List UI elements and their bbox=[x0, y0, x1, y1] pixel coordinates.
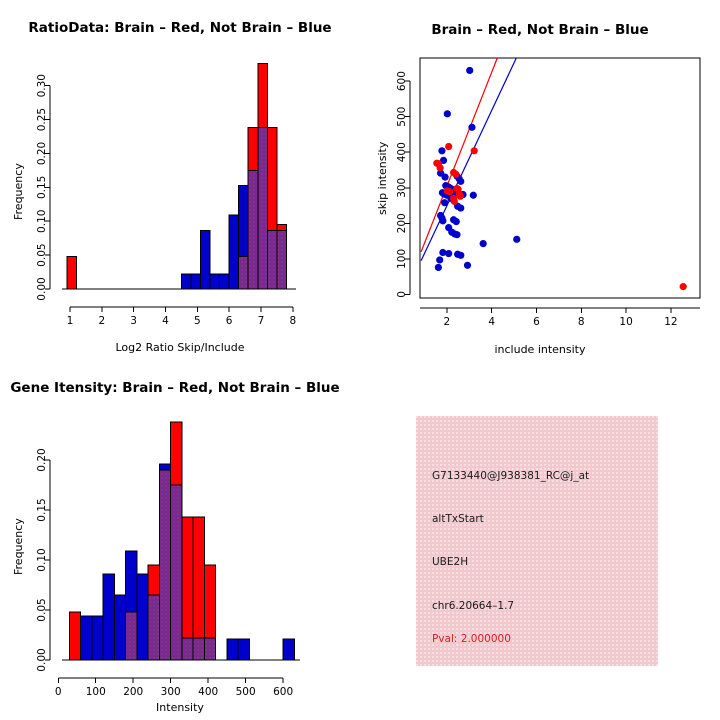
scatter-point bbox=[445, 143, 452, 150]
scatter-point bbox=[457, 204, 464, 211]
scatter-point bbox=[457, 252, 464, 259]
hist-bar bbox=[227, 639, 238, 660]
x-tick-label: 2 bbox=[98, 315, 105, 327]
hist-bar bbox=[67, 256, 77, 289]
hist-bar-overlap bbox=[193, 638, 204, 660]
y-tick-label: 0 bbox=[396, 291, 408, 298]
hist-bar-overlap bbox=[239, 256, 249, 289]
figure-canvas: RatioData: Brain – Red, Not Brain – Blue… bbox=[0, 0, 720, 720]
scatter-point bbox=[444, 110, 451, 117]
y-tick-label: 0.05 bbox=[36, 243, 48, 266]
scatter-point bbox=[453, 231, 460, 238]
hist-bar-overlap bbox=[159, 470, 170, 660]
hist-bar bbox=[229, 215, 239, 289]
panel-gene-histogram: Gene Itensity: Brain – Red, Not Brain – … bbox=[0, 360, 360, 720]
y-tick-label: 0.30 bbox=[36, 74, 48, 97]
hist-bar bbox=[70, 612, 81, 660]
x-tick-label: 2 bbox=[444, 316, 451, 328]
ratio-histogram-title: RatioData: Brain – Red, Not Brain – Blue bbox=[0, 20, 360, 36]
ratio-histogram-plot: 0.000.050.100.150.200.250.3012345678 bbox=[0, 0, 360, 360]
hist-bar-overlap bbox=[267, 231, 277, 289]
y-tick-label: 0.15 bbox=[36, 498, 48, 521]
y-tick-label: 0.25 bbox=[36, 108, 48, 131]
hist-bar-overlap bbox=[204, 638, 215, 660]
scatter-point bbox=[466, 67, 473, 74]
scatter-point bbox=[452, 171, 459, 178]
x-tick-label: 4 bbox=[488, 316, 495, 328]
y-tick-label: 0.10 bbox=[36, 548, 48, 571]
gene-histogram-title: Gene Itensity: Brain – Red, Not Brain – … bbox=[0, 380, 350, 396]
hist-bar bbox=[81, 616, 92, 660]
scatter-point bbox=[513, 236, 520, 243]
hist-bar bbox=[103, 574, 114, 660]
scatter-title: Brain – Red, Not Brain – Blue bbox=[360, 22, 720, 38]
scatter-xlabel: include intensity bbox=[360, 343, 720, 356]
x-tick-label: 600 bbox=[273, 686, 293, 698]
hist-bars bbox=[70, 422, 295, 660]
hist-bar-overlap bbox=[126, 612, 137, 660]
hist-bar-overlap bbox=[258, 128, 268, 289]
y-tick-label: 300 bbox=[396, 178, 408, 198]
hist-bar bbox=[191, 274, 201, 289]
gene-histogram-plot: 0.000.050.100.150.200100200300400500600 bbox=[0, 360, 360, 720]
y-tick-label: 0.00 bbox=[36, 648, 48, 671]
scatter-point bbox=[680, 283, 687, 290]
scatter-point bbox=[480, 240, 487, 247]
x-tick-label: 12 bbox=[664, 316, 677, 328]
hist-bar bbox=[238, 639, 249, 660]
y-tick-label: 200 bbox=[396, 213, 408, 233]
hist-bar bbox=[220, 274, 230, 289]
y-tick-label: 0.20 bbox=[36, 142, 48, 165]
scatter-point bbox=[451, 198, 458, 205]
y-tick-label: 0.15 bbox=[36, 176, 48, 199]
hist-bar-overlap bbox=[182, 638, 193, 660]
gene-histogram-xlabel: Intensity bbox=[0, 701, 360, 714]
hist-bar-overlap bbox=[248, 170, 258, 289]
info-probe-id: G7133440@J938381_RC@j_at bbox=[432, 470, 589, 482]
x-tick-label: 300 bbox=[161, 686, 181, 698]
scatter-point bbox=[457, 178, 464, 185]
hist-bar bbox=[200, 231, 210, 289]
hist-bar bbox=[114, 595, 125, 660]
scatter-point bbox=[437, 164, 444, 171]
x-tick-label: 400 bbox=[198, 686, 218, 698]
info-gene-symbol: UBE2H bbox=[432, 556, 468, 568]
scatter-point bbox=[470, 192, 477, 199]
hist-bar bbox=[210, 274, 220, 289]
scatter-point bbox=[468, 124, 475, 131]
y-tick-label: 500 bbox=[396, 107, 408, 127]
y-tick-label: 0.10 bbox=[36, 210, 48, 233]
hist-bar bbox=[283, 639, 294, 660]
ratio-histogram-ylabel: Frequency bbox=[12, 163, 25, 220]
gene-histogram-ylabel: Frequency bbox=[12, 518, 25, 575]
scatter-point bbox=[445, 250, 452, 257]
hist-bar-overlap bbox=[171, 485, 182, 660]
scatter-point bbox=[471, 147, 478, 154]
y-tick-label: 0.00 bbox=[36, 277, 48, 300]
ratio-histogram-xlabel: Log2 Ratio Skip/Include bbox=[0, 341, 360, 354]
y-tick-label: 0.05 bbox=[36, 598, 48, 621]
y-tick-label: 100 bbox=[396, 249, 408, 269]
scatter-point bbox=[439, 217, 446, 224]
x-tick-label: 6 bbox=[226, 315, 233, 327]
scatter-inner bbox=[421, 58, 687, 290]
x-tick-label: 8 bbox=[578, 316, 585, 328]
scatter-point bbox=[457, 193, 464, 200]
scatter-point bbox=[464, 262, 471, 269]
y-tick-label: 0.20 bbox=[36, 448, 48, 471]
x-tick-label: 200 bbox=[123, 686, 143, 698]
info-pval: Pval: 2.000000 bbox=[432, 633, 511, 645]
scatter-plot: 010020030040050060024681012 bbox=[360, 0, 720, 360]
fit-line-not-brain-fit bbox=[421, 58, 516, 261]
y-tick-label: 400 bbox=[396, 142, 408, 162]
hist-bars bbox=[67, 63, 287, 289]
x-tick-label: 3 bbox=[130, 315, 137, 327]
hist-bar bbox=[181, 274, 191, 289]
scatter-point bbox=[446, 188, 453, 195]
x-tick-label: 4 bbox=[162, 315, 169, 327]
panel-scatter: Brain – Red, Not Brain – Blue 0100200300… bbox=[360, 0, 720, 360]
panel-info: G7133440@J938381_RC@j_at altTxStart UBE2… bbox=[360, 360, 720, 720]
y-tick-label: 600 bbox=[396, 71, 408, 91]
hist-bar-overlap bbox=[148, 595, 159, 660]
scatter-point bbox=[438, 147, 445, 154]
x-tick-label: 7 bbox=[258, 315, 265, 327]
scatter-point bbox=[441, 199, 448, 206]
info-event-type: altTxStart bbox=[432, 513, 484, 525]
info-locus: chr6.20664–1.7 bbox=[432, 600, 514, 612]
scatter-ylabel: skip intensity bbox=[376, 142, 389, 215]
scatter-point bbox=[435, 264, 442, 271]
panel-ratio-histogram: RatioData: Brain – Red, Not Brain – Blue… bbox=[0, 0, 360, 360]
x-tick-label: 6 bbox=[533, 316, 540, 328]
x-tick-label: 5 bbox=[194, 315, 201, 327]
scatter-point bbox=[441, 174, 448, 181]
info-background bbox=[416, 416, 658, 666]
x-tick-label: 500 bbox=[236, 686, 256, 698]
x-tick-label: 0 bbox=[55, 686, 62, 698]
x-tick-label: 1 bbox=[67, 315, 74, 327]
x-tick-label: 10 bbox=[619, 316, 632, 328]
hist-bar-overlap bbox=[277, 231, 287, 289]
hist-bar bbox=[137, 574, 148, 660]
x-tick-label: 100 bbox=[86, 686, 106, 698]
scatter-point bbox=[453, 218, 460, 225]
x-tick-label: 8 bbox=[289, 315, 296, 327]
scatter-point bbox=[436, 256, 443, 263]
hist-bar bbox=[92, 616, 103, 660]
